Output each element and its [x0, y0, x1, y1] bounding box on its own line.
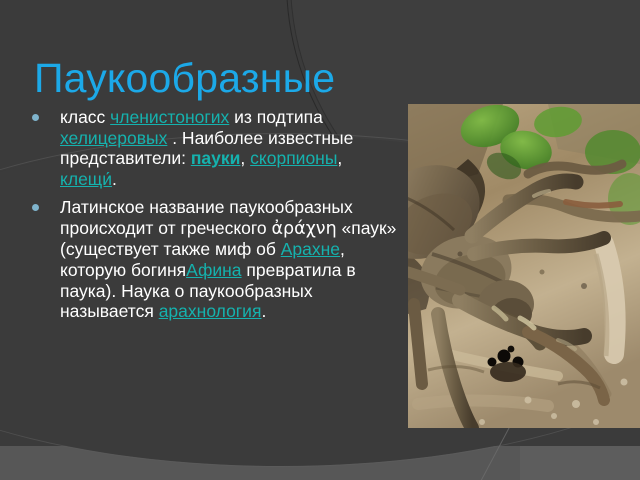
run-text: . [112, 169, 117, 189]
bullet-item-1: класс членистоногих из подтипа хелицеров… [26, 107, 398, 189]
bullet-dot-icon [32, 204, 39, 211]
link-kleshchi[interactable]: клещи́ [60, 169, 112, 189]
link-arahne[interactable]: Арахне [281, 239, 340, 259]
link-chlenistonogih[interactable]: членистоногих [110, 107, 229, 127]
link-arahnologiya[interactable]: арахнология [159, 301, 262, 321]
slide-body: класс членистоногих из подтипа хелицеров… [26, 107, 398, 322]
decorative-corner-fill [520, 446, 640, 480]
bullet-item-2: Латинское название паукообразных происхо… [26, 197, 398, 321]
spider-photo [408, 104, 640, 428]
bullet-dot-icon [32, 114, 39, 121]
run-text: , [337, 148, 342, 168]
decorative-bottom-band [0, 446, 640, 480]
run-text: . [261, 301, 266, 321]
slide: Паукообразные класс членистоногих из под… [0, 0, 640, 480]
run-text: класс [60, 107, 110, 127]
bullet-text-1: класс членистоногих из подтипа хелицеров… [60, 107, 353, 189]
slide-title: Паукообразные [34, 56, 520, 102]
link-pauki[interactable]: пауки [191, 148, 241, 168]
link-skorpiony[interactable]: скорпионы [250, 148, 337, 168]
greek-term-arachne: ἀράχνη [272, 219, 337, 239]
run-text: , [240, 148, 250, 168]
link-afina[interactable]: Афина [186, 260, 241, 280]
run-text: из подтипа [229, 107, 323, 127]
spider-photo-illustration [408, 104, 640, 428]
link-helicerovyh[interactable]: хелицеровых [60, 128, 167, 148]
bullet-text-2: Латинское название паукообразных происхо… [60, 197, 396, 321]
bullet-list: класс членистоногих из подтипа хелицеров… [26, 107, 398, 322]
